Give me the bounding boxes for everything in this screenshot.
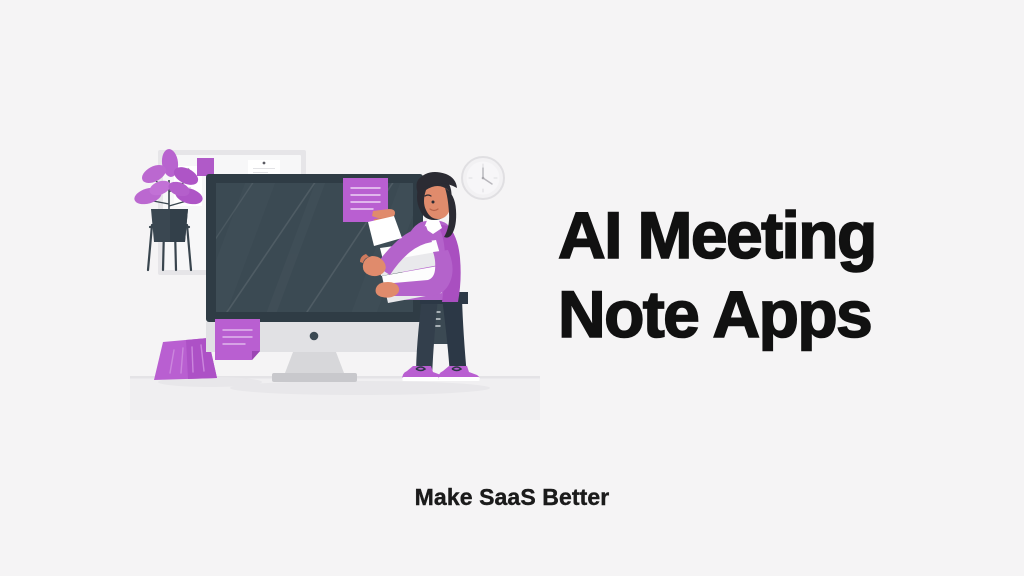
monitor-power-dot <box>310 332 319 341</box>
hero-illustration <box>130 130 540 420</box>
monitor-sticky-note <box>215 319 260 360</box>
wall-clock-icon <box>462 157 504 199</box>
whiteboard-sticky-note <box>197 158 214 176</box>
page-title: AI Meeting Note Apps <box>558 196 978 354</box>
plant-pot <box>151 209 188 242</box>
page-title-line-1: AI Meeting <box>558 196 978 275</box>
floor <box>130 376 540 420</box>
monitor-stand <box>272 352 357 382</box>
poster-canvas: AI Meeting Note Apps Make SaaS Better <box>0 0 1024 576</box>
person-shoes <box>402 366 480 381</box>
footer-tagline: Make SaaS Better <box>0 484 1024 511</box>
page-title-line-2: Note Apps <box>558 275 978 354</box>
